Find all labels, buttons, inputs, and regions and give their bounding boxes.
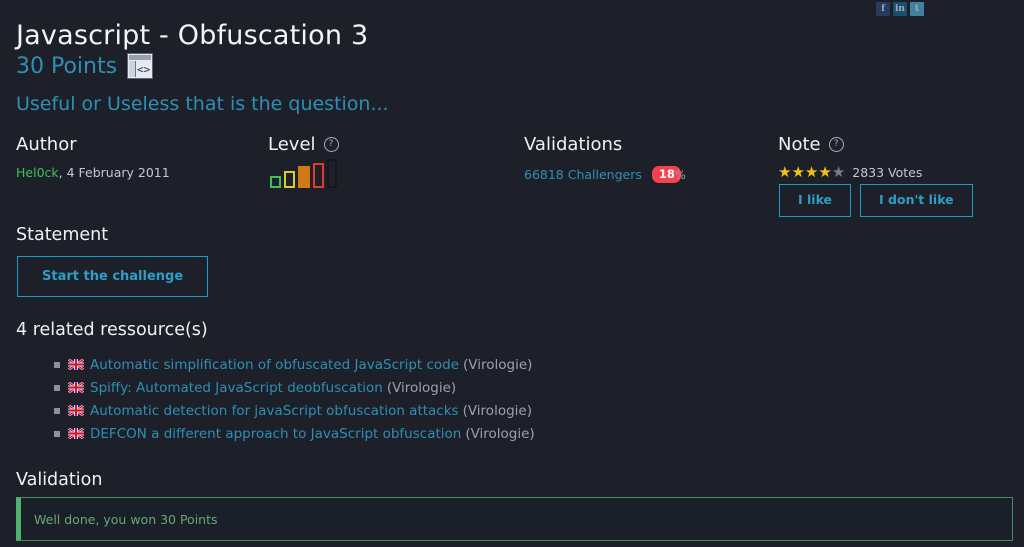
uk-flag-icon: [68, 382, 90, 393]
star-icon-2[interactable]: ★: [791, 163, 804, 181]
level-bar-4: [313, 163, 324, 188]
twitter-icon[interactable]: t: [910, 2, 924, 16]
resource-link[interactable]: DEFCON a different approach to JavaScrip…: [90, 426, 461, 442]
level-bar-3: [298, 166, 310, 188]
resource-category: (Virologie): [463, 357, 532, 373]
resource-link[interactable]: Spiffy: Automated JavaScript deobfuscati…: [90, 380, 383, 396]
list-bullet: [54, 362, 60, 368]
star-icon-4[interactable]: ★: [818, 163, 831, 181]
i-like-button[interactable]: I like: [779, 184, 851, 217]
statement-heading: Statement: [16, 225, 108, 245]
resource-category: (Virologie): [463, 403, 532, 419]
challenge-page: f in t Javascript - Obfuscation 3 30 Poi…: [0, 0, 1024, 547]
validation-alert: Well done, you won 30 Points: [16, 497, 1013, 541]
star-icon-1[interactable]: ★: [778, 163, 791, 181]
author-date: , 4 February 2011: [59, 165, 170, 180]
star-icon-5[interactable]: ★: [832, 163, 845, 181]
level-bar-1: [270, 176, 281, 188]
percent-sign: %: [675, 168, 686, 182]
resource-category: (Virologie): [387, 380, 456, 396]
resource-item: Spiffy: Automated JavaScript deobfuscati…: [54, 376, 535, 399]
author-info: Hel0ck, 4 February 2011: [16, 165, 170, 180]
note-rating: ★★★★★ 2833 Votes: [778, 165, 922, 180]
points-label: 30 Points: [16, 54, 117, 79]
resource-category: (Virologie): [465, 426, 534, 442]
resource-item: Automatic simplification of obfuscated J…: [54, 353, 535, 376]
level-help-icon[interactable]: ?: [324, 137, 339, 152]
validation-heading: Validation: [16, 470, 102, 490]
challengers-link[interactable]: 66818 Challengers: [524, 167, 642, 182]
page-subtitle: Useful or Useless that is the question..…: [16, 93, 389, 115]
validation-percent: 18 %: [652, 166, 686, 183]
validations-heading: Validations: [524, 134, 622, 155]
list-bullet: [54, 431, 60, 437]
author-name-link[interactable]: Hel0ck: [16, 165, 59, 180]
validations-heading-label: Validations: [524, 134, 622, 155]
social-share-bar: f in t: [876, 2, 924, 16]
level-difficulty-bars: [270, 162, 337, 188]
note-vote-buttons: I like I don't like: [779, 184, 973, 217]
resources-heading: 4 related ressource(s): [16, 320, 208, 340]
resource-link[interactable]: Automatic simplification of obfuscated J…: [90, 357, 459, 373]
resource-item: Automatic detection for javaScript obfus…: [54, 399, 535, 422]
start-the-challenge-button[interactable]: Start the challenge: [17, 256, 208, 297]
level-bar-2: [284, 171, 295, 188]
list-bullet: [54, 408, 60, 414]
votes-count: 2833 Votes: [852, 165, 922, 180]
note-heading-label: Note: [778, 134, 821, 155]
note-help-icon[interactable]: ?: [829, 137, 844, 152]
validation-message: Well done, you won 30 Points: [34, 512, 218, 527]
i-dont-like-button[interactable]: I don't like: [860, 184, 973, 217]
level-heading: Level ?: [268, 134, 339, 155]
author-heading-label: Author: [16, 134, 77, 155]
rating-stars: ★★★★★: [778, 165, 845, 180]
page-title: Javascript - Obfuscation 3: [16, 20, 368, 51]
linkedin-icon[interactable]: in: [893, 2, 907, 16]
points-row: 30 Points <>: [16, 53, 153, 79]
resources-list: Automatic simplification of obfuscated J…: [54, 353, 535, 445]
author-heading: Author: [16, 134, 77, 155]
facebook-icon[interactable]: f: [876, 2, 890, 16]
list-bullet: [54, 385, 60, 391]
level-heading-label: Level: [268, 134, 316, 155]
uk-flag-icon: [68, 405, 90, 416]
validations-info: 66818 Challengers 18 %: [524, 166, 686, 183]
resource-item: DEFCON a different approach to JavaScrip…: [54, 422, 535, 445]
uk-flag-icon: [68, 359, 90, 370]
level-bar-5: [327, 159, 337, 188]
code-window-icon: <>: [127, 53, 153, 79]
uk-flag-icon: [68, 428, 90, 439]
note-heading: Note ?: [778, 134, 844, 155]
resource-link[interactable]: Automatic detection for javaScript obfus…: [90, 403, 459, 419]
star-icon-3[interactable]: ★: [805, 163, 818, 181]
